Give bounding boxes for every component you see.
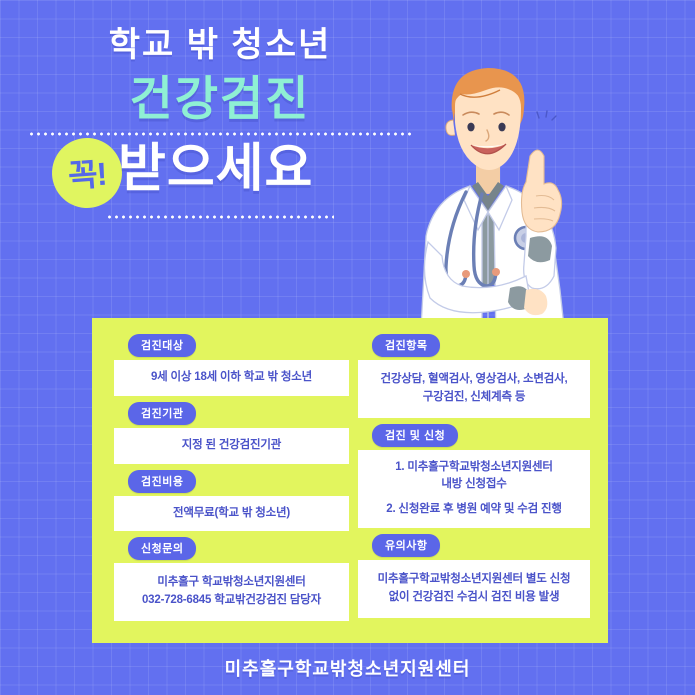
info-block-institution: 검진기관 지정 된 건강검진기관 [114, 402, 349, 464]
info-label-items: 검진항목 [372, 334, 440, 357]
info-text: 지정 된 건강검진기관 [122, 437, 341, 455]
info-block-contact: 신청문의 미추홀구 학교밖청소년지원센터 032-728-6845 학교밖건강검… [114, 537, 349, 621]
info-step-2: 2. 신청완료 후 병원 예약 및 수검 진행 [366, 501, 582, 519]
info-card-institution: 지정 된 건강검진기관 [114, 428, 349, 464]
info-text: 9세 이상 18세 이하 학교 밖 청소년 [122, 369, 341, 387]
info-block-items: 검진항목 건강상담, 혈액검사, 영상검사, 소변검사, 구강검진, 신체계측 … [358, 334, 590, 418]
dotted-divider-bottom [106, 215, 334, 219]
info-text: 미추홀구학교밖청소년지원센터 별도 신청 [366, 571, 582, 589]
info-label-notice: 유의사항 [372, 534, 440, 557]
info-block-notice: 유의사항 미추홀구학교밖청소년지원센터 별도 신청 없이 건강검진 수검시 검진… [358, 534, 590, 618]
info-text: 건강상담, 혈액검사, 영상검사, 소변검사, [366, 371, 582, 389]
info-card-target: 9세 이상 18세 이하 학교 밖 청소년 [114, 360, 349, 396]
info-text: 미추홀구 학교밖청소년지원센터 [122, 574, 341, 592]
sparkle-icon [537, 111, 556, 120]
info-step-1b: 내방 신청접수 [441, 478, 506, 490]
info-label-cost: 검진비용 [128, 470, 196, 493]
info-column-right: 검진항목 건강상담, 혈액검사, 영상검사, 소변검사, 구강검진, 신체계측 … [358, 334, 590, 624]
info-block-apply: 검진 및 신청 1. 미추홀구학교밖청소년지원센터 내방 신청접수 2. 신청완… [358, 424, 590, 528]
info-label-institution: 검진기관 [128, 402, 196, 425]
info-card-cost: 전액무료(학교 밖 청소년) [114, 496, 349, 532]
info-label-apply: 검진 및 신청 [372, 424, 458, 447]
headline-line-2: 건강검진 [0, 71, 440, 127]
info-text-phone: 032-728-6845 학교밖건강검진 담당자 [122, 592, 341, 610]
info-column-left: 검진대상 9세 이상 18세 이하 학교 밖 청소년 검진기관 지정 된 건강검… [114, 334, 349, 627]
info-label-target: 검진대상 [128, 334, 196, 357]
info-label-contact: 신청문의 [128, 537, 196, 560]
dotted-divider-top [28, 132, 412, 136]
poster-canvas: 학교 밖 청소년 건강검진 꼭! 받으세요 [0, 0, 695, 695]
headline-group: 학교 밖 청소년 건강검진 꼭! 받으세요 [0, 24, 440, 219]
info-panel: 검진대상 9세 이상 18세 이하 학교 밖 청소년 검진기관 지정 된 건강검… [92, 318, 608, 643]
info-text: 없이 건강검진 수검시 검진 비용 발생 [366, 589, 582, 607]
info-card-apply: 1. 미추홀구학교밖청소년지원센터 내방 신청접수 2. 신청완료 후 병원 예… [358, 450, 590, 528]
info-text: 구강검진, 신체계측 등 [366, 389, 582, 407]
info-block-target: 검진대상 9세 이상 18세 이하 학교 밖 청소년 [114, 334, 349, 396]
footer-organization: 미추홀구학교밖청소년지원센터 [0, 655, 695, 681]
info-step-1a: 1. 미추홀구학교밖청소년지원센터 [395, 461, 553, 473]
headline-line-1: 학교 밖 청소년 [0, 24, 440, 67]
info-text: 전액무료(학교 밖 청소년) [122, 505, 341, 523]
info-card-items: 건강상담, 혈액검사, 영상검사, 소변검사, 구강검진, 신체계측 등 [358, 360, 590, 418]
info-card-notice: 미추홀구학교밖청소년지원센터 별도 신청 없이 건강검진 수검시 검진 비용 발… [358, 560, 590, 618]
headline-line-3: 받으세요 [118, 143, 313, 195]
doctor-illustration [414, 60, 654, 345]
emphasis-badge: 꼭! [47, 133, 126, 212]
emphasis-badge-label: 꼭! [66, 149, 107, 198]
headline-line-3-row: 꼭! 받으세요 [0, 141, 440, 211]
info-block-cost: 검진비용 전액무료(학교 밖 청소년) [114, 470, 349, 532]
info-card-contact: 미추홀구 학교밖청소년지원센터 032-728-6845 학교밖건강검진 담당자 [114, 563, 349, 621]
